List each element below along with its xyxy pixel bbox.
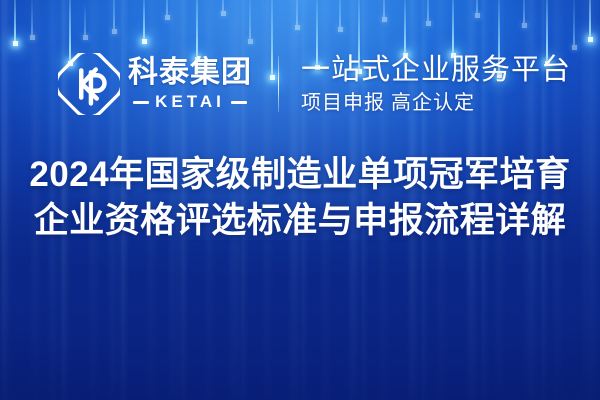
page-title: 2024年国家级制造业单项冠军培育 企业资格评选标准与申报流程详解	[0, 152, 600, 244]
logo-wordmark: 科泰集团 KETAI	[128, 57, 252, 111]
tagline-primary: 一站式企业服务平台	[301, 54, 571, 87]
banner-canvas: 科泰集团 KETAI 一站式企业服务平台 项目申报 高企认定 2024年国家级制…	[0, 0, 600, 400]
dash-left-icon	[133, 101, 149, 104]
page-title-line-1: 2024年国家级制造业单项冠军培育	[0, 152, 600, 198]
logo-company-name-en: KETAI	[155, 93, 225, 111]
logo-company-name-cn: 科泰集团	[128, 57, 252, 89]
logo-lockup[interactable]: 科泰集团 KETAI	[58, 53, 252, 115]
ketai-diamond-monogram-icon	[58, 53, 120, 115]
header-divider	[278, 56, 279, 112]
logo-english-row: KETAI	[133, 93, 247, 111]
dash-right-icon	[231, 101, 247, 104]
tagline-block: 一站式企业服务平台 项目申报 高企认定	[301, 54, 571, 115]
tagline-secondary: 项目申报 高企认定	[301, 91, 571, 115]
banner-header: 科泰集团 KETAI 一站式企业服务平台 项目申报 高企认定	[0, 44, 600, 124]
page-title-line-2: 企业资格评选标准与申报流程详解	[0, 198, 600, 244]
